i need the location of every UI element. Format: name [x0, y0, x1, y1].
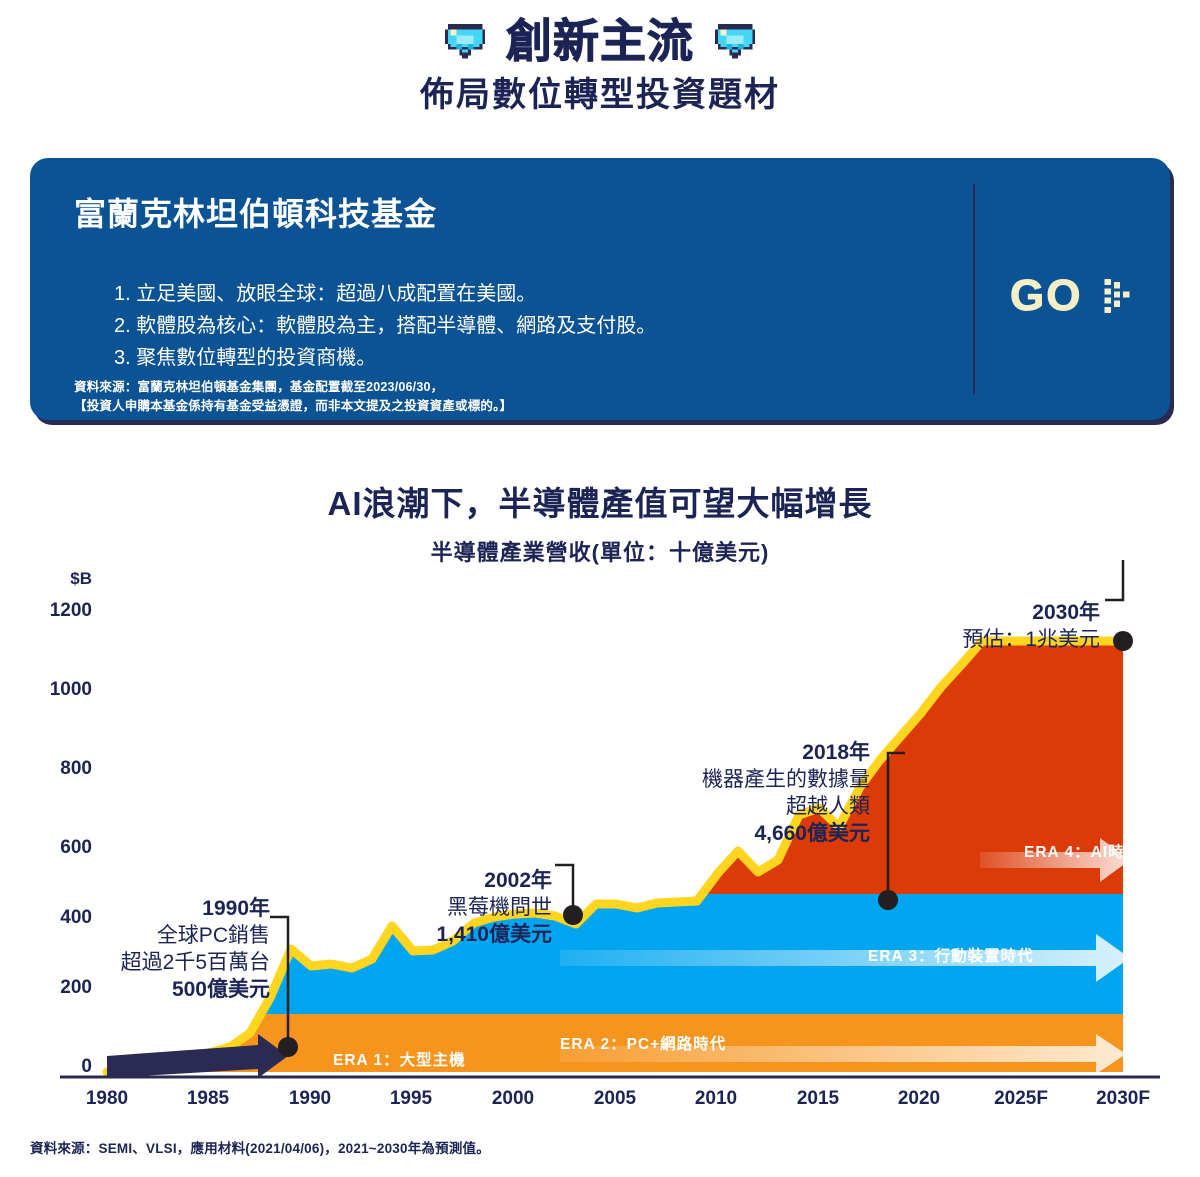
- fund-feature-list: 1. 立足美國、放眼全球：超過八成配置在美國。 2. 軟體股為核心：軟體股為主，…: [74, 278, 994, 374]
- annotation-2030-line-2: 預估：1兆美元: [860, 627, 1100, 654]
- annotation-2018-line-4: 4,660億美元: [620, 821, 870, 848]
- annotation-1990-line-4: 500億美元: [20, 977, 270, 1004]
- list-item: 2. 軟體股為核心：軟體股為主，搭配半導體、網路及支付股。: [114, 310, 994, 342]
- annotation-1990-line-3: 超過2千5百萬台: [20, 950, 270, 977]
- list-item: 1. 立足美國、放眼全球：超過八成配置在美國。: [114, 278, 994, 310]
- annotation-2002-line-1: 2002年: [320, 868, 552, 895]
- chart-title: AI浪潮下，半導體產值可望大幅增長: [0, 487, 1200, 520]
- era-2-label: ERA 2：PC+網路時代: [560, 1037, 726, 1053]
- marker-2002: [563, 905, 583, 925]
- annotation-2018-line-3: 超越人類: [620, 794, 870, 821]
- annotation-2018: 2018年 機器產生的數據量 超越人類 4,660億美元: [620, 740, 870, 848]
- gem-icon: [712, 18, 758, 64]
- marker-2018: [878, 890, 898, 910]
- marker-1990: [278, 1037, 298, 1057]
- list-item: 3. 聚焦數位轉型的投資商機。: [114, 342, 994, 374]
- header: 創新主流 佈局數位轉型投資題材: [0, 18, 1200, 112]
- annotation-1990-line-2: 全球PC銷售: [20, 923, 270, 950]
- page-subtitle: 佈局數位轉型投資題材: [0, 78, 1200, 112]
- annotation-2030-line-1: 2030年: [860, 600, 1100, 627]
- disclaimer-line-1: 資料來源：富蘭克林坦伯頓基金集團，基金配置截至2023/06/30，: [74, 378, 954, 397]
- disclaimer-line-2: 【投資人申購本基金係持有基金受益憑證，而非本文提及之投資資產或標的。】: [74, 397, 954, 416]
- era-3-label: ERA 3：行動裝置時代: [868, 949, 1034, 965]
- annotation-2002-line-3: 1,410億美元: [320, 922, 552, 949]
- fund-name: 富蘭克林坦伯頓科技基金: [74, 198, 437, 230]
- annotation-2002-line-2: 黑莓機問世: [320, 895, 552, 922]
- marker-2030: [1113, 631, 1133, 651]
- go-button[interactable]: GO: [1010, 266, 1170, 326]
- gem-icon: [442, 18, 488, 64]
- era-1-arrow: [107, 1034, 288, 1078]
- annotation-2030: 2030年 預估：1兆美元: [860, 600, 1100, 654]
- play-arrow-icon: [1104, 279, 1130, 313]
- annotation-1990: 1990年 全球PC銷售 超過2千5百萬台 500億美元: [20, 896, 270, 1004]
- era-1-label: ERA 1：大型主機: [333, 1053, 466, 1069]
- annotation-2002: 2002年 黑莓機問世 1,410億美元: [320, 868, 552, 949]
- era-4-label: ERA 4：AI時代: [1024, 845, 1141, 861]
- go-button-label: GO: [1010, 274, 1082, 318]
- page-title: 創新主流: [506, 18, 694, 64]
- chart-source: 資料來源：SEMI、VLSI，應用材料(2021/04/06)，2021~203…: [30, 1142, 490, 1156]
- header-title-row: 創新主流: [0, 18, 1200, 64]
- infographic-page: 創新主流 佈局數位轉型投資題材: [0, 0, 1200, 1177]
- annotation-2018-line-2: 機器產生的數據量: [620, 767, 870, 794]
- fund-disclaimer: 資料來源：富蘭克林坦伯頓基金集團，基金配置截至2023/06/30， 【投資人申…: [74, 378, 954, 416]
- annotation-2018-line-1: 2018年: [620, 740, 870, 767]
- fund-panel: 富蘭克林坦伯頓科技基金 1. 立足美國、放眼全球：超過八成配置在美國。 2. 軟…: [30, 158, 1170, 420]
- annotation-1990-line-1: 1990年: [20, 896, 270, 923]
